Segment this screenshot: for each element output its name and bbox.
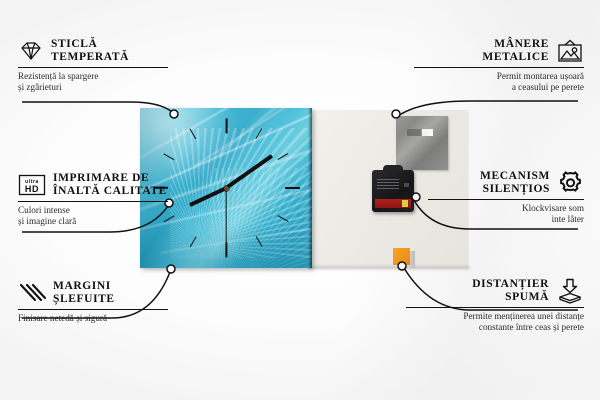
feature-subtitle: Finisare netedă și sigură: [18, 313, 168, 324]
feature-subtitle: Rezistență la spargere și zgârieturi: [18, 71, 168, 93]
glass-edge-right: [308, 108, 312, 268]
feature-header: MÂNERE METALICE: [414, 38, 584, 64]
feature-polished-edges: MARGINI ȘLEFUITE Finisare netedă și sigu…: [18, 280, 168, 324]
feature-metal-hooks: MÂNERE METALICE Permit montarea ușoară a…: [414, 38, 584, 93]
feature-title: STICLĂ TEMPERATĂ: [51, 38, 129, 64]
feature-subtitle: Permit montarea ușoară a ceasului pe per…: [414, 71, 584, 93]
feature-rule: [414, 67, 584, 68]
feature-title: DISTANȚIER SPUMĂ: [472, 278, 549, 304]
polished-edges-icon: [18, 283, 46, 303]
mechanism-port: [404, 183, 409, 187]
second-hand: [225, 188, 226, 248]
feature-title: MÂNERE METALICE: [482, 38, 549, 64]
feature-foam-spacer: DISTANȚIER SPUMĂ Permite menținerea unei…: [406, 278, 584, 333]
feature-title: MARGINI ȘLEFUITE: [53, 280, 115, 306]
svg-text:HD: HD: [25, 184, 39, 194]
feature-tempered-glass: STICLĂ TEMPERATĂ Rezistență la spargere …: [18, 38, 168, 93]
clock-mechanism: [372, 170, 414, 212]
backboard-shadow: [308, 266, 470, 271]
feature-title: MECANISM SILENȚIOS: [480, 170, 550, 196]
feature-hd-print: ultra HD IMPRIMARE DE ÎNALTĂ CALITATE Cu…: [18, 172, 168, 227]
feature-rule: [428, 199, 584, 200]
feature-header: ultra HD IMPRIMARE DE ÎNALTĂ CALITATE: [18, 172, 168, 198]
feature-title: IMPRIMARE DE ÎNALTĂ CALITATE: [53, 172, 167, 198]
feature-subtitle: Permite menținerea unei distanțe constan…: [406, 311, 584, 333]
feature-rule: [18, 201, 168, 202]
foam-spacer: [393, 248, 410, 265]
clock-tick: [285, 187, 300, 189]
mechanism-hanger-tab: [383, 165, 403, 172]
feature-silent-mechanism: MECANISM SILENȚIOS Klockvisare som inte …: [428, 170, 584, 225]
feature-header: MECANISM SILENȚIOS: [428, 170, 584, 196]
feature-rule: [18, 309, 168, 310]
clock-tick: [225, 118, 227, 133]
gear-icon: [557, 170, 584, 196]
feature-header: DISTANȚIER SPUMĂ: [406, 278, 584, 304]
foam-spacer-icon: [556, 278, 584, 304]
feature-subtitle: Klockvisare som inte låter: [428, 203, 584, 225]
feature-header: STICLĂ TEMPERATĂ: [18, 38, 168, 64]
metal-hanger-plate: [396, 116, 448, 170]
feature-rule: [18, 67, 168, 68]
feature-rule: [406, 307, 584, 308]
mechanism-label: [377, 179, 399, 191]
foam-spacer-side: [410, 251, 415, 268]
clock-hand-hub: [224, 186, 229, 191]
ultra-hd-icon: ultra HD: [18, 174, 46, 196]
diamond-icon: [18, 41, 44, 61]
battery: [375, 199, 411, 208]
wall-frame-icon: [556, 39, 584, 63]
feature-subtitle: Culori intense și imagine clară: [18, 205, 168, 227]
feature-header: MARGINI ȘLEFUITE: [18, 280, 168, 306]
